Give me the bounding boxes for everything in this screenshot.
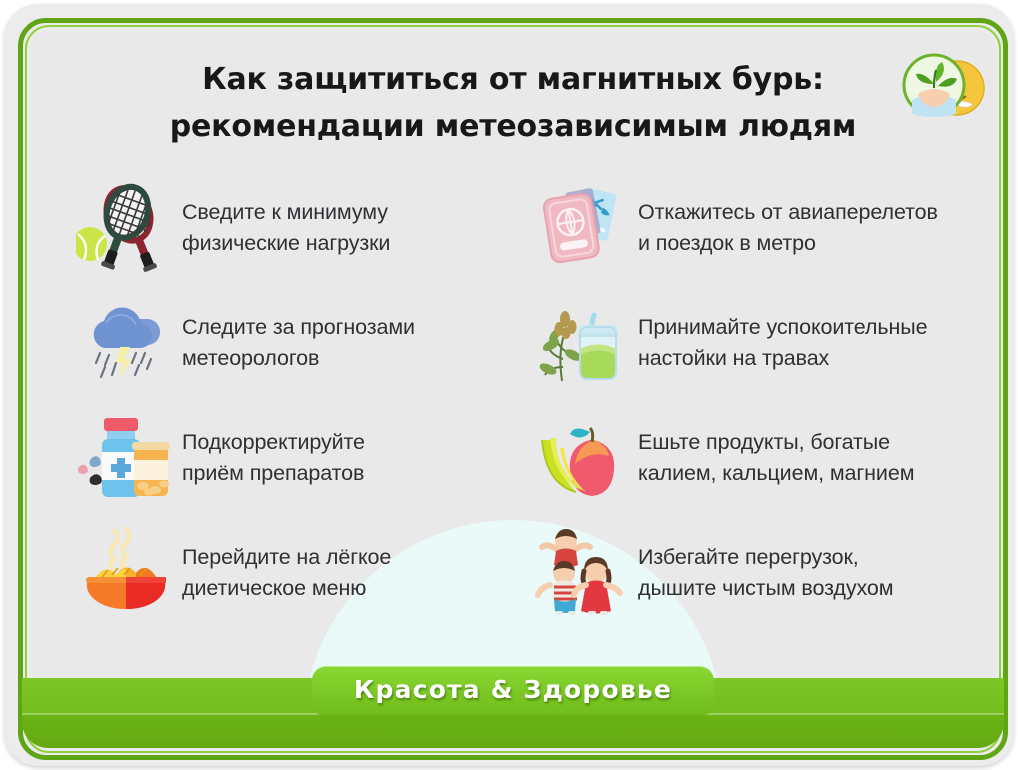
tennis-rackets-icon: [70, 178, 182, 278]
tip-line-2: калием, кальцием, магнием: [638, 458, 914, 489]
title-line-2: рекомендации метеозависимым людям: [30, 103, 996, 150]
tips-row: Перейдите на лёгкое диетическое меню: [30, 515, 996, 630]
brand-label: Красота & Здоровье: [354, 675, 672, 704]
children-playing-icon: [526, 523, 638, 623]
tip-item-4: Подкорректируйте приём препаратов: [30, 400, 508, 515]
banana-apple-icon: [526, 408, 638, 508]
tip-item-7: Избегайте перегрузок, дышите чистым возд…: [508, 515, 986, 630]
tip-item-6: Перейдите на лёгкое диетическое меню: [30, 515, 508, 630]
tip-text: Избегайте перегрузок, дышите чистым возд…: [638, 542, 893, 604]
tip-line-1: Принимайте успокоительные: [638, 315, 927, 339]
beauty-health-logo: [900, 44, 986, 128]
brand-tab[interactable]: Красота & Здоровье: [312, 666, 714, 715]
content-card: Как защититься от магнитных бурь: рекоме…: [30, 30, 996, 690]
tip-text: Откажитесь от авиаперелетов и поездок в …: [638, 197, 938, 259]
tip-line-2: диетическое меню: [182, 573, 391, 604]
tips-grid: Сведите к минимуму физические нагрузки: [30, 170, 996, 630]
tip-line-1: Перейдите на лёгкое: [182, 545, 391, 569]
medicine-bottles-icon: [70, 408, 182, 508]
tip-item-0: Сведите к минимуму физические нагрузки: [30, 170, 508, 285]
infographic-poster: Как защититься от магнитных бурь: рекоме…: [0, 0, 1018, 770]
tips-row: Подкорректируйте приём препаратов: [30, 400, 996, 515]
hot-soup-bowl-icon: [70, 523, 182, 623]
herbal-drink-icon: [526, 293, 638, 393]
tip-line-1: Откажитесь от авиаперелетов: [638, 200, 938, 224]
tip-text: Следите за прогнозами метеорологов: [182, 312, 415, 374]
tip-line-2: физические нагрузки: [182, 228, 390, 259]
page-title: Как защититься от магнитных бурь: рекоме…: [30, 56, 996, 150]
tip-text: Перейдите на лёгкое диетическое меню: [182, 542, 391, 604]
tip-line-2: настойки на травах: [638, 343, 927, 374]
tip-line-1: Сведите к минимуму: [182, 200, 388, 224]
tips-row: Следите за прогнозами метеорологов: [30, 285, 996, 400]
tip-text: Ешьте продукты, богатые калием, кальцием…: [638, 427, 914, 489]
tip-text: Подкорректируйте приём препаратов: [182, 427, 365, 489]
tip-item-3: Принимайте успокоительные настойки на тр…: [508, 285, 986, 400]
tip-line-1: Следите за прогнозами: [182, 315, 415, 339]
tip-item-1: Откажитесь от авиаперелетов и поездок в …: [508, 170, 986, 285]
bottom-green-bar: Красота & Здоровье: [22, 678, 1004, 748]
tip-item-5: Ешьте продукты, богатые калием, кальцием…: [508, 400, 986, 515]
tip-line-2: метеорологов: [182, 343, 415, 374]
tip-line-1: Избегайте перегрузок,: [638, 545, 859, 569]
tip-text: Сведите к минимуму физические нагрузки: [182, 197, 390, 259]
tip-line-1: Подкорректируйте: [182, 430, 365, 454]
passport-tickets-icon: [526, 178, 638, 278]
tip-line-2: и поездок в метро: [638, 228, 938, 259]
tip-line-1: Ешьте продукты, богатые: [638, 430, 890, 454]
tips-row: Сведите к минимуму физические нагрузки: [30, 170, 996, 285]
tip-item-2: Следите за прогнозами метеорологов: [30, 285, 508, 400]
tip-line-2: приём препаратов: [182, 458, 365, 489]
rain-cloud-icon: [70, 293, 182, 393]
poster-plate: Как защититься от магнитных бурь: рекоме…: [4, 4, 1014, 766]
tip-text: Принимайте успокоительные настойки на тр…: [638, 312, 927, 374]
title-line-1: Как защититься от магнитных бурь:: [30, 56, 996, 103]
tip-line-2: дышите чистым воздухом: [638, 573, 893, 604]
